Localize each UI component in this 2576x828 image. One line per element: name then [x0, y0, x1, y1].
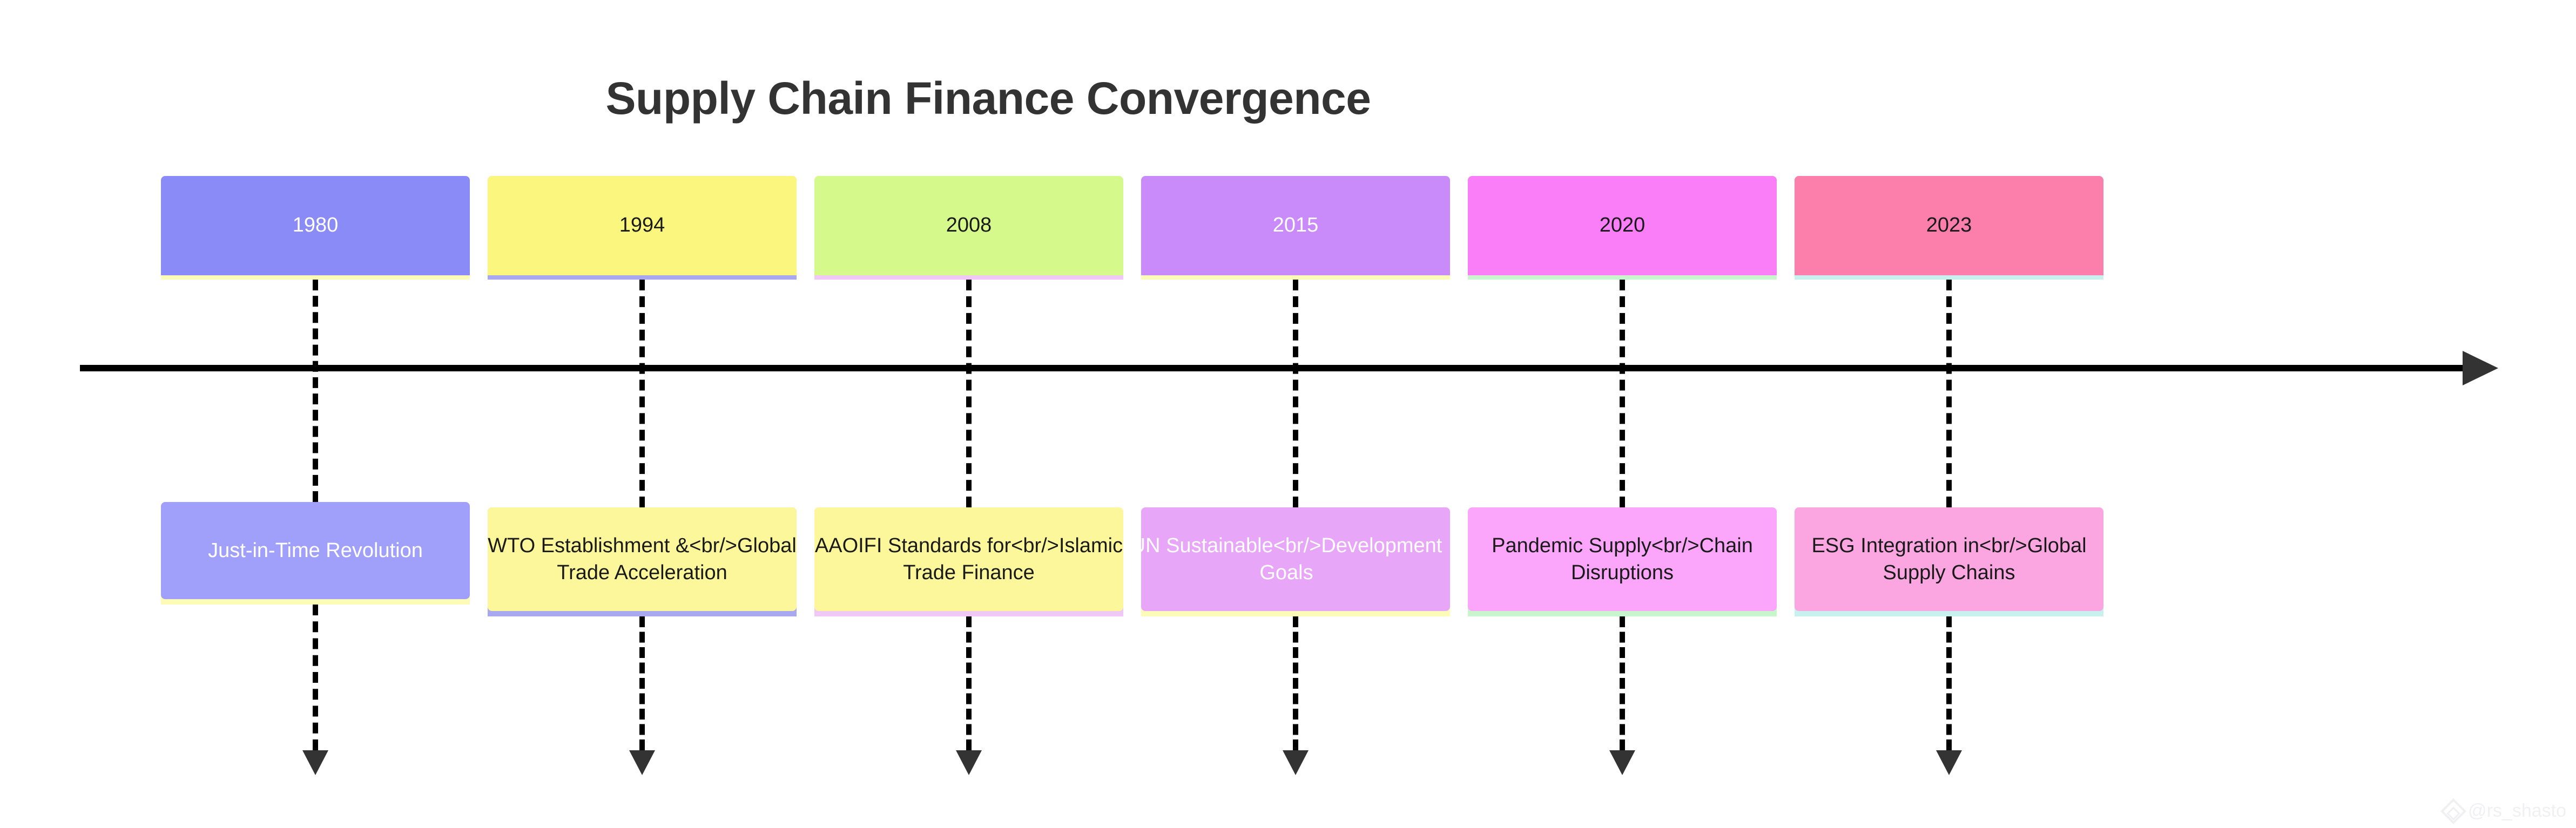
connector-dashed-lower [1946, 616, 1952, 750]
connector-arrow-down-icon [629, 750, 655, 775]
year-label: 1980 [293, 213, 339, 238]
timeline-column: 2015UN Sustainable<br/>Development Goals [1141, 0, 1450, 828]
year-box-2023[interactable]: 2023 [1795, 176, 2103, 275]
connector-arrow-down-icon [1936, 750, 1962, 775]
timeline-diagram: Supply Chain Finance Convergence 1980Jus… [0, 0, 2576, 828]
watermark-diamond-icon [2440, 798, 2466, 824]
event-box-2015[interactable]: UN Sustainable<br/>Development Goals [1141, 507, 1450, 611]
timeline-column: 2008AAOIFI Standards for<br/>Islamic Tra… [814, 0, 1123, 828]
year-box-1994[interactable]: 1994 [488, 176, 797, 275]
timeline-column: 1980Just-in-Time Revolution [161, 0, 470, 828]
timeline-axis-arrow-icon [2463, 351, 2498, 385]
connector-dashed-upper [966, 280, 972, 507]
connector-arrow-down-icon [1283, 750, 1309, 775]
event-label: Pandemic Supply<br/>Chain Disruptions [1468, 532, 1777, 586]
connector-dashed-lower [1620, 616, 1625, 750]
connector-dashed-lower [1293, 616, 1298, 750]
event-box-1980[interactable]: Just-in-Time Revolution [161, 502, 470, 599]
connector-arrow-down-icon [956, 750, 982, 775]
event-label: UN Sustainable<br/>Development Goals [1123, 532, 1450, 586]
timeline-column: 1994WTO Establishment &<br/>Global Trade… [488, 0, 797, 828]
timeline-column: 2023ESG Integration in<br/>Global Supply… [1795, 0, 2103, 828]
year-label: 2020 [1600, 213, 1646, 238]
connector-dashed-upper [313, 280, 318, 502]
connector-arrow-down-icon [1609, 750, 1635, 775]
connector-arrow-down-icon [302, 750, 328, 775]
connector-dashed-upper [1946, 280, 1952, 507]
year-box-1980[interactable]: 1980 [161, 176, 470, 275]
event-box-2023[interactable]: ESG Integration in<br/>Global Supply Cha… [1795, 507, 2103, 611]
connector-dashed-upper [639, 280, 645, 507]
timeline-column: 2020Pandemic Supply<br/>Chain Disruption… [1468, 0, 1777, 828]
connector-dashed-lower [313, 605, 318, 750]
event-label: ESG Integration in<br/>Global Supply Cha… [1795, 532, 2103, 586]
event-label: AAOIFI Standards for<br/>Islamic Trade F… [814, 532, 1123, 586]
event-label: WTO Establishment &<br/>Global Trade Acc… [488, 532, 797, 586]
connector-dashed-upper [1293, 280, 1298, 507]
year-box-2008[interactable]: 2008 [814, 176, 1123, 275]
connector-dashed-lower [966, 616, 972, 750]
connector-dashed-upper [1620, 280, 1625, 507]
connector-dashed-lower [639, 616, 645, 750]
event-box-1994[interactable]: WTO Establishment &<br/>Global Trade Acc… [488, 507, 797, 611]
year-label: 2023 [1926, 213, 1972, 238]
year-box-2015[interactable]: 2015 [1141, 176, 1450, 275]
event-box-2008[interactable]: AAOIFI Standards for<br/>Islamic Trade F… [814, 507, 1123, 611]
year-label: 1994 [619, 213, 665, 238]
watermark-handle: @rs_shasto [2468, 800, 2566, 822]
year-box-2020[interactable]: 2020 [1468, 176, 1777, 275]
event-box-2020[interactable]: Pandemic Supply<br/>Chain Disruptions [1468, 507, 1777, 611]
year-label: 2015 [1273, 213, 1319, 238]
year-label: 2008 [946, 213, 992, 238]
event-label: Just-in-Time Revolution [161, 537, 470, 564]
watermark: @rs_shasto [2444, 800, 2566, 822]
